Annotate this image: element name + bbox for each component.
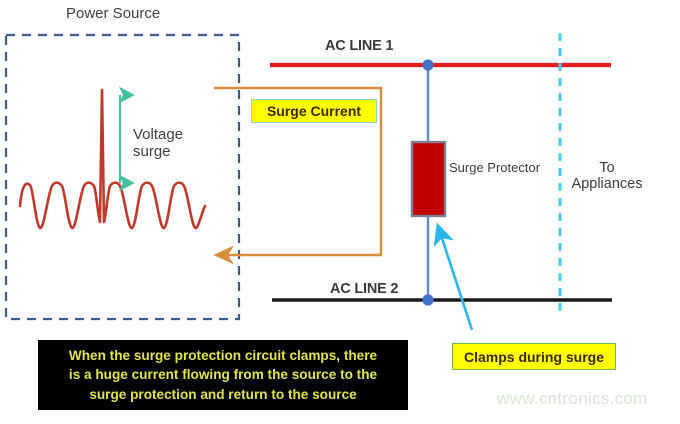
clamps-pointer-arrow bbox=[439, 229, 472, 330]
clamps-during-surge-callout: Clamps during surge bbox=[452, 343, 616, 370]
note-line-2: is a huge current flowing from the sourc… bbox=[69, 365, 377, 384]
junction-node-line1 bbox=[422, 59, 433, 70]
surge-protector-body bbox=[412, 142, 445, 216]
surge-protection-diagram: Power Source AC LINE 1 AC LINE 2 Voltage… bbox=[0, 0, 680, 424]
note-line-3: surge protection and return to the sourc… bbox=[69, 385, 377, 404]
surge-current-callout: Surge Current bbox=[251, 99, 377, 123]
ac-line-2-label: AC LINE 2 bbox=[330, 281, 398, 297]
junction-node-line2 bbox=[422, 294, 433, 305]
explanatory-note-box: When the surge protection circuit clamps… bbox=[38, 340, 408, 410]
ac-line-1-label: AC LINE 1 bbox=[325, 38, 393, 54]
voltage-surge-label: Voltage surge bbox=[133, 127, 183, 161]
watermark-text: www.cntronics.com bbox=[497, 389, 648, 409]
to-appliances-label: To Appliances bbox=[572, 160, 643, 192]
note-line-1: When the surge protection circuit clamps… bbox=[69, 346, 377, 365]
power-source-title: Power Source bbox=[66, 6, 160, 23]
power-source-boundary bbox=[6, 35, 239, 319]
surge-protector-label: Surge Protector bbox=[449, 161, 540, 176]
